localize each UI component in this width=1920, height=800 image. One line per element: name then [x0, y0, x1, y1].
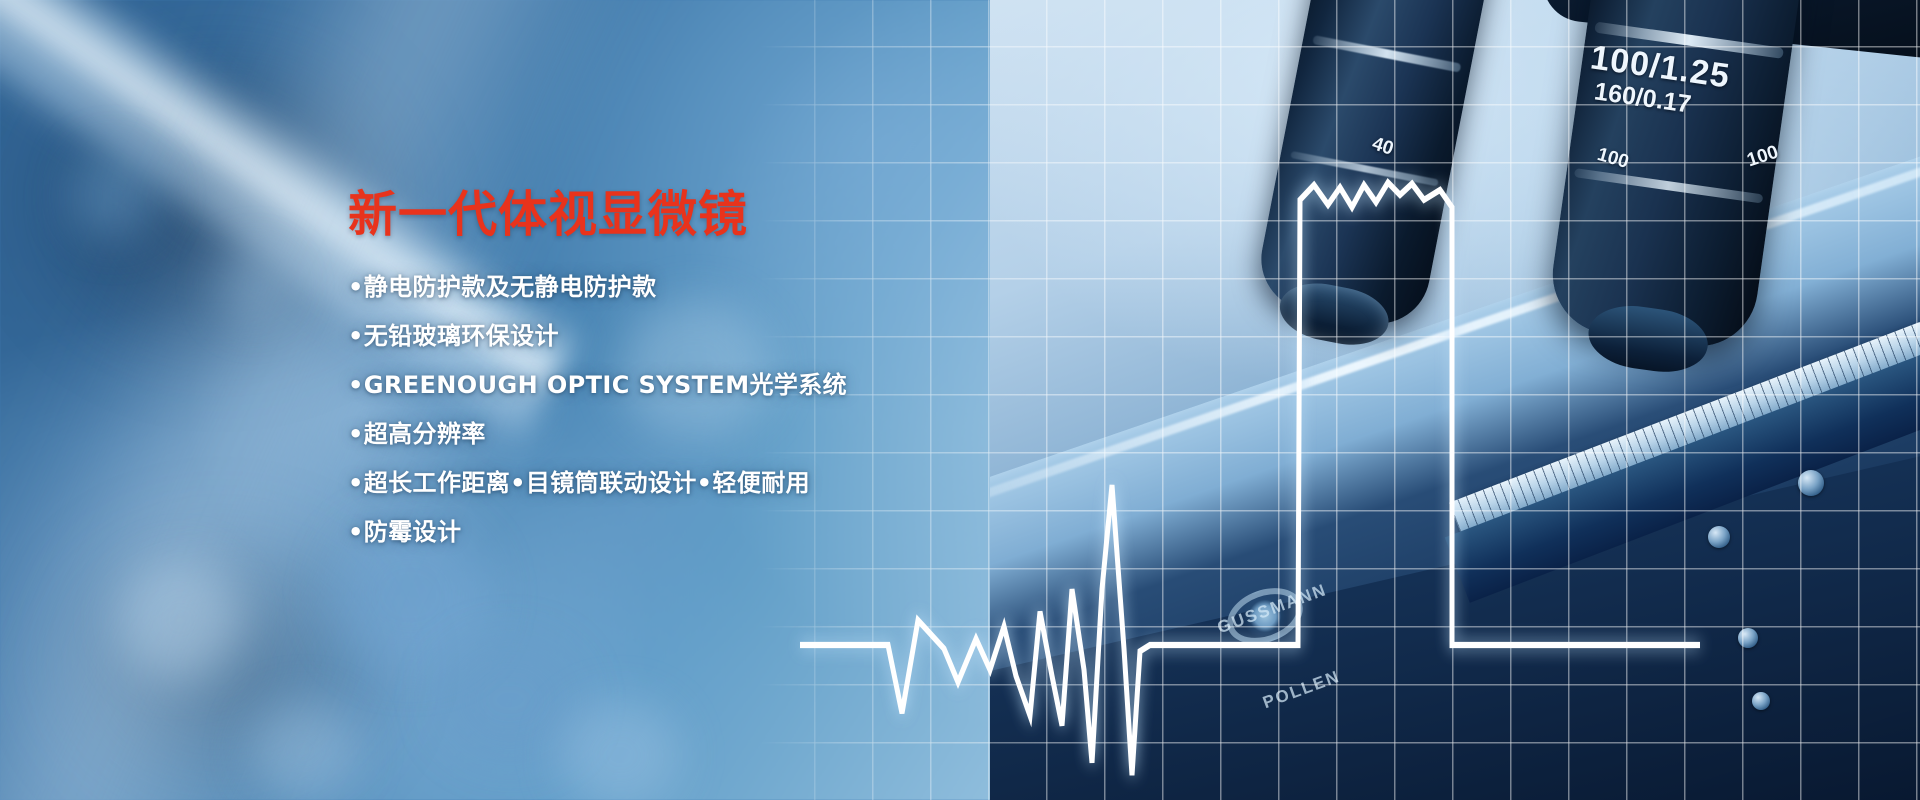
list-item: •GREENOUGH OPTIC SYSTEM光学系统 [348, 373, 1068, 397]
bokeh-dot [560, 700, 680, 800]
list-item: •静电防护款及无静电防护款 [348, 275, 1068, 299]
list-item: •无铅玻璃环保设计 [348, 324, 1068, 348]
bokeh-dot [440, 640, 580, 760]
objective-band [1290, 151, 1438, 186]
bokeh-dot [70, 150, 160, 240]
marketing-copy-block: 新一代体视显微镜 •静电防护款及无静电防护款 •无铅玻璃环保设计 •GREENO… [348, 190, 1068, 544]
objective-band [1313, 35, 1462, 72]
stage-screw [1798, 470, 1824, 496]
stage-screw [1738, 628, 1758, 648]
bokeh-dot [248, 700, 358, 800]
bokeh-dot [120, 560, 240, 680]
bokeh-dot [220, 250, 290, 320]
stage-screw [1752, 692, 1770, 710]
feature-list: •静电防护款及无静电防护款 •无铅玻璃环保设计 •GREENOUGH OPTIC… [348, 275, 1068, 544]
hero-banner: GUSSMANN POLLEN 40 100/1.25 160/0.17 100… [0, 0, 1920, 800]
page-title: 新一代体视显微镜 [348, 190, 1068, 239]
list-item: •防霉设计 [348, 520, 1068, 544]
list-item: •超高分辨率 [348, 422, 1068, 446]
stage-screw [1708, 526, 1730, 548]
microscope-photo: GUSSMANN POLLEN 40 100/1.25 160/0.17 100… [990, 0, 1920, 800]
list-item: •超长工作距离•目镜筒联动设计•轻便耐用 [348, 471, 1068, 495]
objective-band [1574, 168, 1763, 203]
